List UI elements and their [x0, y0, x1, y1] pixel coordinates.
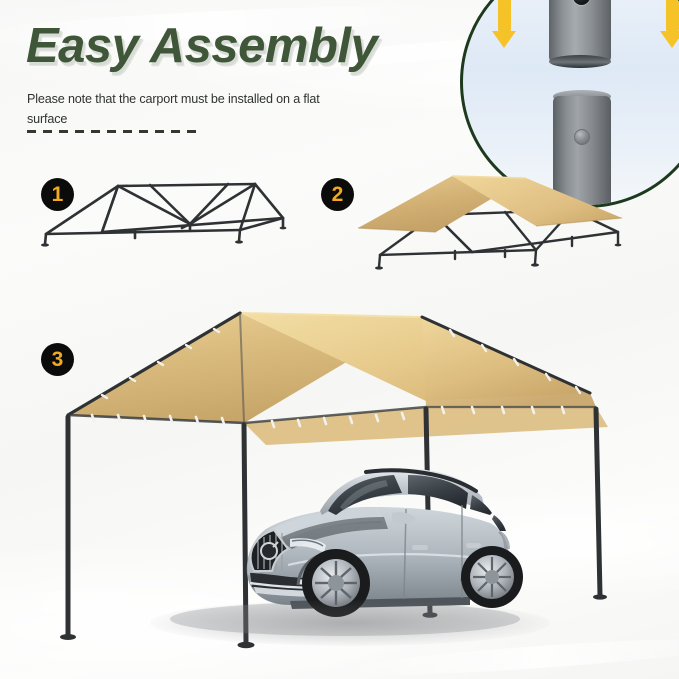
step-2-illustration: [340, 170, 640, 285]
down-arrow-icon: [498, 0, 511, 48]
page-title: Easy Assembly: [26, 22, 446, 71]
step-3-illustration: [30, 295, 650, 665]
dashed-rule: [27, 130, 199, 133]
page-title-text: Easy Assembly: [26, 22, 446, 71]
assembly-instruction-graphic: Easy Assembly Please note that the carpo…: [0, 0, 679, 679]
step-badge-1: 1: [41, 178, 74, 211]
step-badge-2: 2: [321, 178, 354, 211]
upper-pole: [549, 0, 611, 63]
page-subtitle: Please note that the carport must be ins…: [27, 90, 327, 129]
down-arrow-icon: [666, 0, 679, 48]
bolt-pin-icon: [574, 129, 590, 145]
upper-pole-rim: [549, 55, 611, 68]
step-badge-3: 3: [41, 343, 74, 376]
